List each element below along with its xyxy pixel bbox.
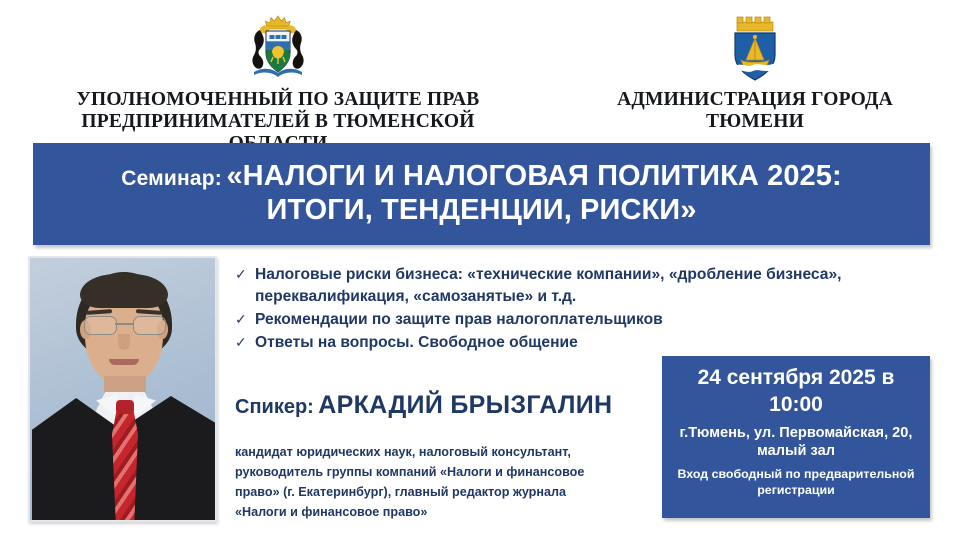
event-datetime: 24 сентября 2025 в 10:00 [662, 365, 930, 419]
ombudsman-title-line1: УПОЛНОМОЧЕННЫЙ ПО ЗАЩИТЕ ПРАВ [38, 89, 518, 111]
poster-header: УПОЛНОМОЧЕННЫЙ ПО ЗАЩИТЕ ПРАВ ПРЕДПРИНИМ… [0, 0, 960, 140]
speaker-bio: кандидат юридических наук, налоговый кон… [235, 443, 635, 523]
portrait-nose [118, 334, 130, 350]
event-registration-note: Вход свободный по предварительной регист… [662, 466, 930, 498]
seminar-title-banner: Семинар: «НАЛОГИ И НАЛОГОВАЯ ПОЛИТИКА 20… [33, 143, 930, 245]
speaker-bio-line3: право» (г. Екатеринбург), главный редакт… [235, 483, 635, 503]
org-block-city-administration: АДМИНИСТРАЦИЯ ГОРОДА ТЮМЕНИ [560, 12, 950, 133]
seminar-poster: УПОЛНОМОЧЕННЫЙ ПО ЗАЩИТЕ ПРАВ ПРЕДПРИНИМ… [0, 0, 960, 540]
speaker-label: Спикер: [235, 396, 314, 418]
city-administration-title-line1: АДМИНИСТРАЦИЯ ГОРОДА [560, 89, 950, 111]
portrait-lens-right [133, 316, 166, 335]
check-icon: ✓ [235, 264, 255, 285]
list-item-label: Ответы на вопросы. Свободное общение [255, 332, 865, 354]
speaker-heading: Спикер: АРКАДИЙ БРЫЗГАЛИН [235, 391, 612, 420]
check-icon: ✓ [235, 332, 255, 353]
banner-first-line: Семинар: «НАЛОГИ И НАЛОГОВАЯ ПОЛИТИКА 20… [52, 159, 912, 193]
portrait-tie [112, 404, 138, 520]
city-administration-title-line2: ТЮМЕНИ [560, 111, 950, 133]
event-venue: г.Тюмень, ул. Первомайская, 20, малый за… [662, 424, 930, 461]
list-item-label: Рекомендации по защите прав налогоплател… [255, 309, 865, 331]
event-details-box: 24 сентября 2025 в 10:00 г.Тюмень, ул. П… [662, 356, 930, 518]
portrait-tie-knot [116, 400, 134, 414]
org-block-ombudsman: УПОЛНОМОЧЕННЫЙ ПО ЗАЩИТЕ ПРАВ ПРЕДПРИНИМ… [38, 12, 518, 154]
speaker-name: АРКАДИЙ БРЫЗГАЛИН [318, 391, 612, 419]
city-administration-title: АДМИНИСТРАЦИЯ ГОРОДА ТЮМЕНИ [560, 89, 950, 133]
banner-kicker: Семинар: [121, 167, 222, 190]
event-venue-line1: г.Тюмень, ул. Первомайская, 20, [668, 424, 924, 442]
banner-title-line1: «НАЛОГИ И НАЛОГОВАЯ ПОЛИТИКА 2025: [226, 160, 841, 192]
portrait-mouth [109, 359, 139, 365]
speaker-portrait [28, 256, 217, 522]
list-item: ✓ Рекомендации по защите прав налогоплат… [235, 309, 865, 331]
banner-title-line2: ИТОГИ, ТЕНДЕНЦИИ, РИСКИ» [52, 193, 912, 227]
tyumen-city-coat-of-arms-icon [560, 12, 950, 84]
tyumen-oblast-coat-of-arms-icon [38, 12, 518, 84]
check-icon: ✓ [235, 309, 255, 330]
event-venue-line2: малый зал [668, 442, 924, 460]
list-item-label: Налоговые риски бизнеса: «технические ко… [255, 264, 865, 308]
list-item: ✓ Налоговые риски бизнеса: «технические … [235, 264, 865, 308]
speaker-bio-line1: кандидат юридических наук, налоговый кон… [235, 443, 635, 463]
portrait-glasses [82, 316, 166, 333]
topics-list: ✓ Налоговые риски бизнеса: «технические … [235, 264, 865, 356]
speaker-bio-line4: «Налоги и финансовое право» [235, 503, 635, 523]
portrait-fringe [80, 274, 168, 308]
portrait-glasses-bridge [115, 323, 133, 325]
speaker-bio-line2: руководитель группы компаний «Налоги и ф… [235, 463, 635, 483]
list-item: ✓ Ответы на вопросы. Свободное общение [235, 332, 865, 354]
portrait-lens-left [84, 316, 117, 335]
